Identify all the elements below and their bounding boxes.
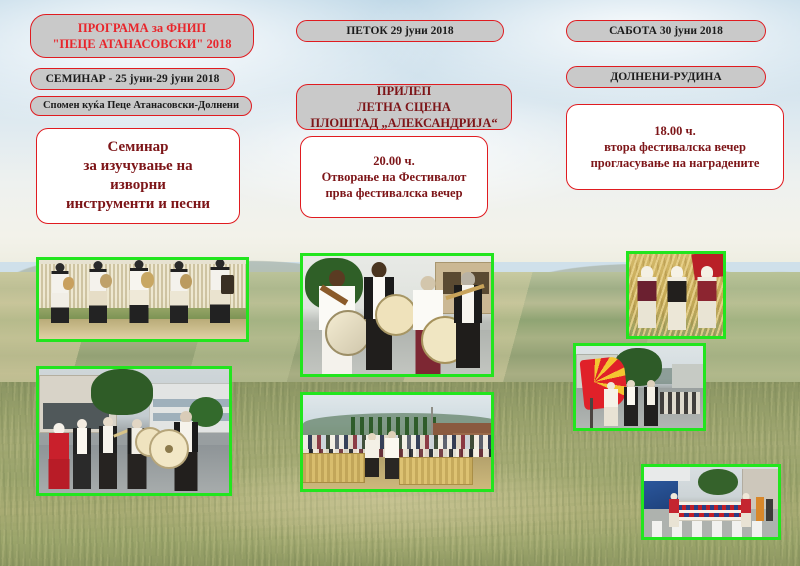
friday-venue-line2: ЛЕТНА СЦЕНА xyxy=(305,99,503,115)
photo-street-banner xyxy=(641,464,781,540)
seminar-program-line3: изворни xyxy=(45,176,231,195)
poster-canvas: ПРОГРАМА за ФНИП "ПЕЦЕ АТАНАСОВСКИ" 2018… xyxy=(0,0,800,566)
saturday-program-line2: втора фестивалска вечер xyxy=(575,139,775,155)
photo-parade-left xyxy=(36,366,232,496)
seminar-venue-label: Спомен куќа Пеце Атанасовски-Долнени xyxy=(39,99,243,112)
program-title-box: ПРОГРАМА за ФНИП "ПЕЦЕ АТАНАСОВСКИ" 2018 xyxy=(30,14,254,58)
friday-program-box: 20.00 ч. Отворање на Фестивалот прва фес… xyxy=(300,136,488,218)
saturday-program-line1: 18.00 ч. xyxy=(575,123,775,139)
seminar-program-line2: за изучување на xyxy=(45,157,231,176)
saturday-venue-box: ДОЛНЕНИ-РУДИНА xyxy=(566,66,766,88)
saturday-date-box: САБОТА 30 јуни 2018 xyxy=(566,20,766,42)
friday-program-line2: Отворање на Фестивалот xyxy=(309,169,479,185)
saturday-program-line3: прогласување на наградените xyxy=(575,155,775,171)
saturday-program-box: 18.00 ч. втора фестивалска вечер проглас… xyxy=(566,104,784,190)
seminar-dates-box: СЕМИНАР - 25 јуни-29 јуни 2018 xyxy=(30,68,235,90)
seminar-program-box: Семинар за изучување на изворни инструме… xyxy=(36,128,240,224)
seminar-venue-box: Спомен куќа Пеце Атанасовски-Долнени xyxy=(30,96,252,116)
friday-venue-line1: ПРИЛЕП xyxy=(305,83,503,99)
friday-date-box: ПЕТОК 29 јуни 2018 xyxy=(296,20,504,42)
photo-haystack-trio xyxy=(626,251,726,339)
seminar-dates-label: СЕМИНАР - 25 јуни-29 јуни 2018 xyxy=(39,72,226,87)
friday-venue-line3: ПЛОШТАД „АЛЕКСАНДРИЈА“ xyxy=(305,115,503,131)
friday-program-line3: прва фестивалска вечер xyxy=(309,185,479,201)
photo-hay-bales-crowd xyxy=(300,392,494,492)
program-title-line2: "ПЕЦЕ АТАНАСОВСКИ" 2018 xyxy=(39,36,245,52)
photo-young-drummers xyxy=(300,253,494,377)
seminar-program-line4: инструменти и песни xyxy=(45,195,231,214)
program-title-line1: ПРОГРАМА за ФНИП xyxy=(39,20,245,36)
friday-date-label: ПЕТОК 29 јуни 2018 xyxy=(305,24,495,39)
friday-program-line1: 20.00 ч. xyxy=(309,153,479,169)
saturday-venue-label: ДОЛНЕНИ-РУДИНА xyxy=(575,70,757,85)
seminar-program-line1: Семинар xyxy=(45,138,231,157)
friday-venue-box: ПРИЛЕП ЛЕТНА СЦЕНА ПЛОШТАД „АЛЕКСАНДРИЈА… xyxy=(296,84,512,130)
saturday-date-label: САБОТА 30 јуни 2018 xyxy=(575,24,757,39)
photo-bagpipers-by-fence xyxy=(36,257,249,342)
photo-flag-procession xyxy=(573,343,706,431)
